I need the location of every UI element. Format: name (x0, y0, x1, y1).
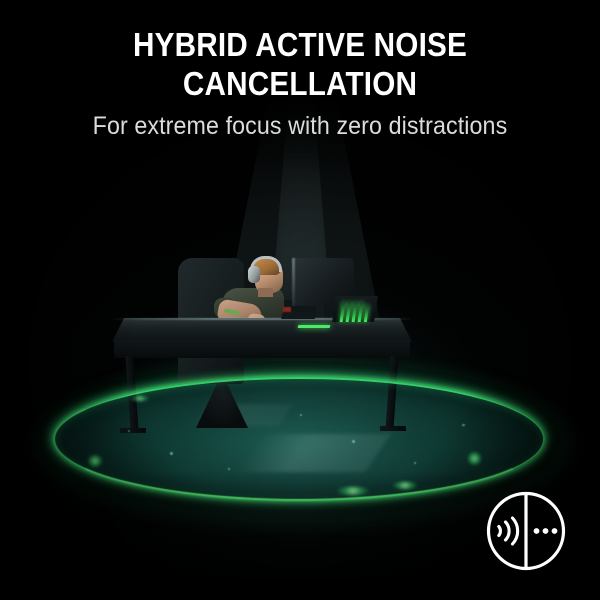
hybrid-anc-promo-banner: HYBRID ACTIVE NOISE CANCELLATION For ext… (0, 0, 600, 600)
ring-hotspot (336, 487, 370, 495)
desk-front-panel (114, 340, 410, 358)
floor-speck (462, 424, 465, 426)
page-title: HYBRID ACTIVE NOISE CANCELLATION (30, 26, 570, 104)
headline-block: HYBRID ACTIVE NOISE CANCELLATION For ext… (0, 26, 600, 140)
page-subtitle: For extreme focus with zero distractions (21, 113, 579, 141)
ring-hotspot (130, 396, 150, 401)
keyboard (281, 312, 317, 319)
ring-hotspot (468, 452, 481, 465)
floor-speck (414, 462, 416, 464)
monitor-bezel-highlight (292, 258, 295, 306)
ring-hotspot (392, 482, 418, 489)
ring-hotspot (88, 455, 102, 467)
person-neck (258, 288, 273, 297)
floor-speck (128, 430, 130, 432)
floor-speck (352, 440, 355, 443)
desk-green-light-bar (298, 325, 331, 328)
desk-red-accent-light (283, 307, 291, 312)
anc-active-noise-cancellation-icon (486, 491, 566, 571)
floor-speck (300, 414, 302, 416)
green-floor-ring-highlight (53, 377, 545, 501)
floor-speck (170, 452, 173, 455)
mouse (0, 0, 13, 8)
floor-speck (228, 468, 230, 470)
headphone-earcup (248, 266, 260, 283)
